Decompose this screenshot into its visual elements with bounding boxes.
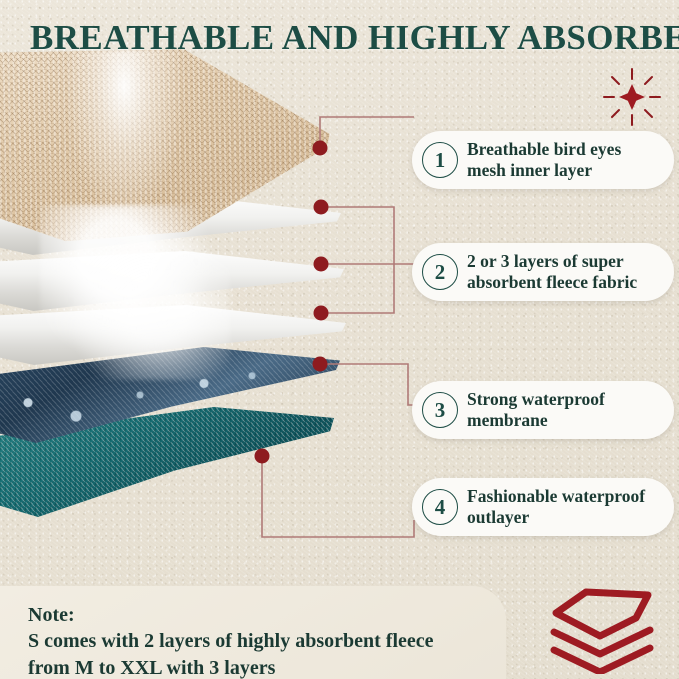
note-heading: Note: [28,602,506,628]
note-panel: Note: S comes with 2 layers of highly ab… [0,586,506,679]
callout-item-2[interactable]: 2 2 or 3 layers of super absorbent fleec… [412,243,674,301]
callout-item-4[interactable]: 4 Fashionable waterproof outlayer [412,478,674,536]
infographic-root: BREATHABLE AND HIGHLY ABSORBENT [0,0,679,679]
callout-text-4: Fashionable waterproof outlayer [467,486,645,528]
callout-item-3[interactable]: 3 Strong waterproof membrane [412,381,674,439]
callout-number-4: 4 [422,489,458,525]
callout-text-2: 2 or 3 layers of super absorbent fleece … [467,251,637,293]
sparkle-star-icon [601,66,663,128]
callout-number-1: 1 [422,142,458,178]
layered-fabric-illustration [0,55,380,515]
callout-number-3: 3 [422,392,458,428]
callout-item-1[interactable]: 1 Breathable bird eyes mesh inner layer [412,131,674,189]
fabric-layer-fleece-middle [0,251,344,311]
callout-text-3: Strong waterproof membrane [467,389,605,431]
water-spray-effect [68,49,191,231]
layers-stack-icon [548,586,658,674]
note-line-1: S comes with 2 layers of highly absorben… [28,628,506,654]
note-line-2: from M to XXL with 3 layers [28,655,506,679]
callout-text-1: Breathable bird eyes mesh inner layer [467,139,621,181]
callout-number-2: 2 [422,254,458,290]
